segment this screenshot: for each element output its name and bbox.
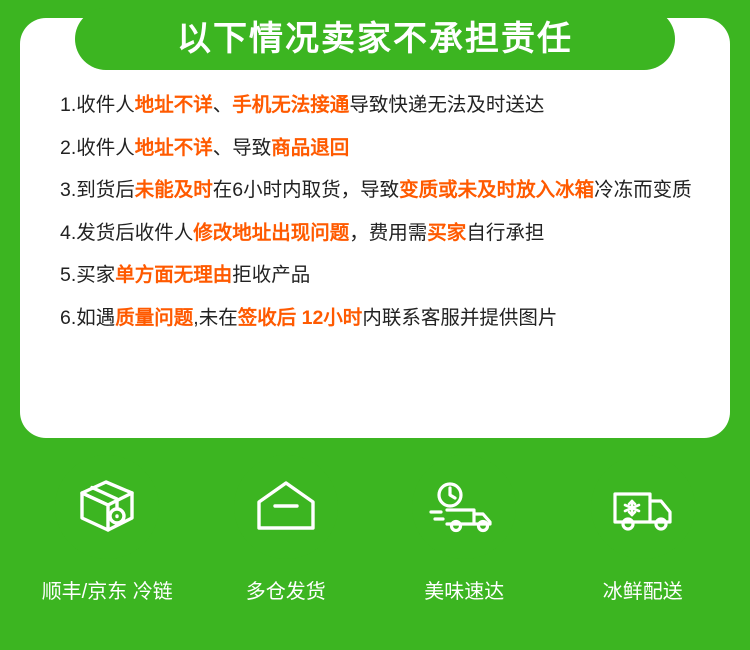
list-item: 1.收件人地址不详、手机无法接通导致快递无法及时送达 [60, 90, 730, 122]
list-item: 3.到货后未能及时在6小时内取货，导致变质或未及时放入冰箱冷冻而变质 [60, 175, 730, 207]
fast-delivery-truck-icon [427, 476, 501, 538]
highlight-text: 变质或未及时放入冰 [399, 179, 575, 201]
plain-text: 导致快递无法及时送达 [349, 94, 544, 116]
highlight-text: 未能及时 [135, 179, 213, 201]
feature-label: 多仓发货 [246, 575, 326, 604]
list-item: 5.买家单方面无理由拒收产品 [60, 260, 730, 292]
promo-page: 1.收件人地址不详、手机无法接通导致快递无法及时送达 2.收件人地址不详、导致商… [0, 0, 750, 650]
highlight-text: 地址不详 [135, 94, 213, 116]
box-package-icon [72, 476, 142, 538]
plain-text: 内联系客服并提供图片 [362, 307, 557, 329]
highlight-text: 单方面无理由 [115, 264, 232, 286]
list-item: 4.发货后收件人修改地址出现问题，费用需买家自行承担 [60, 218, 730, 250]
feature-label: 顺丰/京东 冷链 [42, 575, 173, 604]
feature-label: 冰鲜配送 [603, 575, 683, 604]
title-banner: 以下情况卖家不承担责任 [75, 8, 675, 70]
plain-text: ,未在 [193, 307, 237, 329]
list-item: 6.如遇质量问题,未在签收后 12小时内联系客服并提供图片 [60, 303, 730, 335]
highlight-text: 手机无法接通 [232, 94, 349, 116]
highlight-text: 地址不详 [135, 137, 213, 159]
notice-list: 1.收件人地址不详、手机无法接通导致快递无法及时送达 2.收件人地址不详、导致商… [60, 90, 730, 334]
feature-item-multi-warehouse: 多仓发货 [206, 455, 366, 604]
plain-text: 2.收件人 [60, 137, 135, 159]
highlight-text: 修改地址出现问题 [193, 222, 349, 244]
feature-icon-circle [412, 455, 516, 559]
warehouse-home-icon [251, 476, 321, 538]
highlight-text: 签收后 12小时 [238, 307, 363, 329]
notice-panel: 1.收件人地址不详、手机无法接通导致快递无法及时送达 2.收件人地址不详、导致商… [20, 18, 730, 438]
plain-text: 3.到货后 [60, 179, 135, 201]
plain-text: 1.收件人 [60, 94, 135, 116]
feature-strip: 顺丰/京东 冷链 多仓发货 [0, 455, 750, 650]
highlight-text: 商品退回 [271, 137, 349, 159]
feature-item-refrigerated: 冰鲜配送 [563, 455, 723, 604]
plain-text: 自行承担 [466, 222, 544, 244]
plain-text: 4.发货后收件人 [60, 222, 193, 244]
refrigerated-truck-icon [606, 476, 680, 538]
highlight-text: 质量问题 [115, 307, 193, 329]
list-item: 2.收件人地址不详、导致商品退回 [60, 133, 730, 165]
plain-text: 拒收产品 [232, 264, 310, 286]
highlight-text: 买家 [427, 222, 466, 244]
page-title: 以下情况卖家不承担责任 [177, 22, 573, 56]
feature-item-fast-delivery: 美味速达 [384, 455, 544, 604]
plain-text: 5.买家 [60, 264, 115, 286]
plain-text: 6.如遇 [60, 307, 115, 329]
plain-text: 冷冻而变质 [594, 179, 692, 201]
feature-icon-circle [591, 455, 695, 559]
feature-icon-circle [55, 455, 159, 559]
feature-item-cold-chain: 顺丰/京东 冷链 [27, 455, 187, 604]
feature-label: 美味速达 [424, 575, 504, 604]
feature-icon-circle [234, 455, 338, 559]
highlight-text: 箱 [575, 179, 595, 201]
plain-text: ，费用需 [349, 222, 427, 244]
plain-text: 、 [213, 94, 233, 116]
plain-text: 在6小时内取货，导致 [213, 179, 399, 201]
plain-text: 、导致 [213, 137, 272, 159]
